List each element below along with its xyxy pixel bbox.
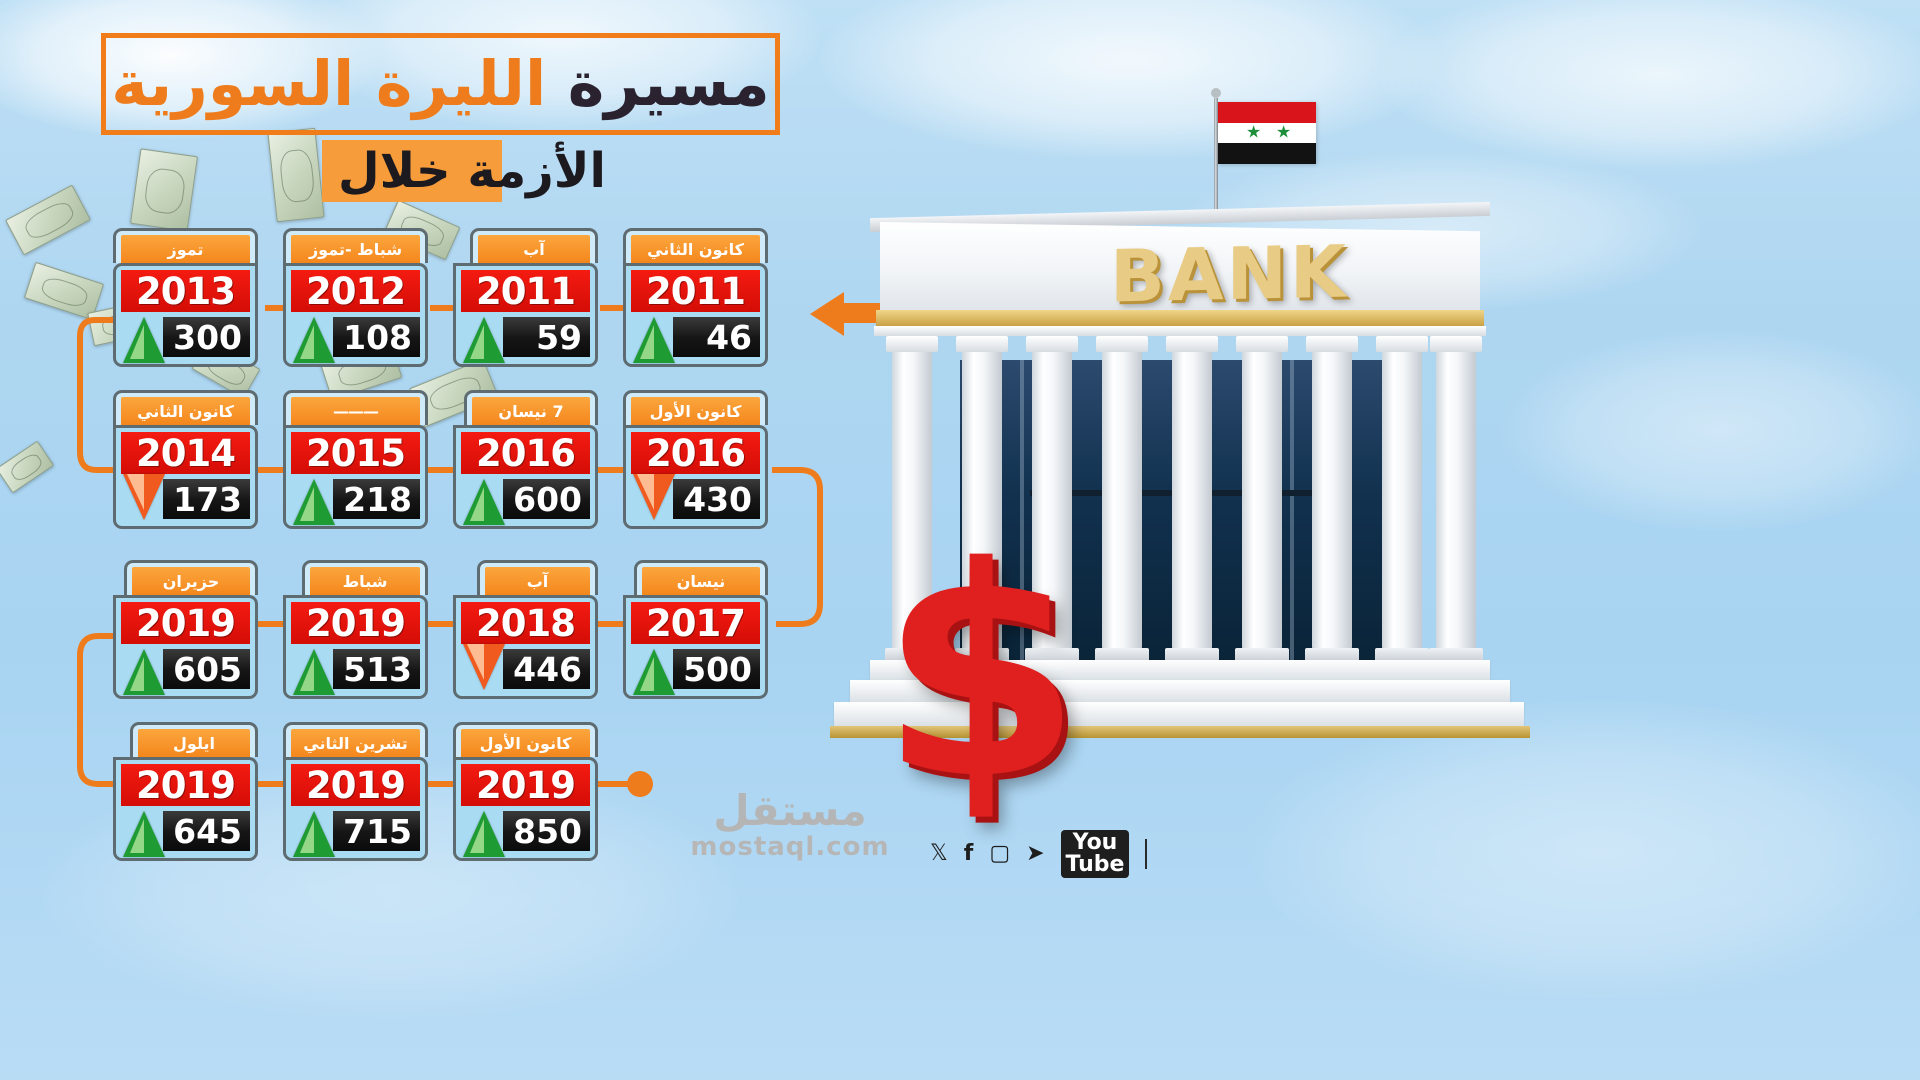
trend-up-icon	[121, 809, 167, 853]
card-month-label: تموز	[121, 235, 250, 263]
card-year: 2019	[291, 602, 420, 644]
timeline-card[interactable]: آب 2011 59	[453, 228, 598, 367]
dollar-sign-icon: $	[880, 530, 1080, 810]
card-year: 2019	[121, 602, 250, 644]
card-year: 2015	[291, 432, 420, 474]
card-year: 2016	[631, 432, 760, 474]
card-value: 59	[503, 317, 590, 357]
card-month-label: 7 نيسان	[472, 397, 590, 425]
trend-up-icon	[291, 315, 337, 359]
card-year: 2019	[461, 764, 590, 806]
watermark-arabic: مستقل	[690, 790, 890, 832]
card-month-label: آب	[485, 567, 590, 595]
card-value: 430	[673, 479, 760, 519]
trend-up-icon	[461, 315, 507, 359]
card-value: 218	[333, 479, 420, 519]
trend-up-icon	[121, 315, 167, 359]
flag-star-icon: ★	[1276, 124, 1291, 141]
social-links: 𝕏 f ▢ ➤ YouTube	[930, 830, 1147, 878]
trend-up-icon	[121, 647, 167, 691]
card-year: 2013	[121, 270, 250, 312]
card-month-label: حزيران	[132, 567, 250, 595]
timeline-card[interactable]: حزيران 2019 605	[113, 560, 258, 699]
trend-up-icon	[291, 477, 337, 521]
bank-illustration: ★ ★ BANK $	[840, 60, 1520, 820]
trend-down-icon	[631, 477, 677, 521]
card-month-label: شباط -تموز	[291, 235, 420, 263]
card-value: 446	[503, 649, 590, 689]
card-month-label: نيسان	[642, 567, 760, 595]
twitter-icon[interactable]: 𝕏	[930, 843, 948, 865]
instagram-icon[interactable]: ▢	[989, 843, 1010, 865]
subtitle-plain-word: خلال	[338, 143, 451, 199]
timeline-card[interactable]: ——— 2015 218	[283, 390, 428, 529]
trend-up-icon	[631, 647, 677, 691]
trend-up-icon	[631, 315, 677, 359]
card-month-label: ———	[291, 397, 420, 425]
timeline-card[interactable]: شباط -تموز 2012 108	[283, 228, 428, 367]
pointer-arrow-icon	[810, 292, 844, 336]
bank-white-band	[874, 326, 1486, 336]
timeline-card[interactable]: كانون الأول 2019 850	[453, 722, 598, 861]
timeline-card[interactable]: كانون الأول 2016 430	[623, 390, 768, 529]
timeline-card[interactable]: ايلول 2019 645	[113, 722, 258, 861]
card-year: 2017	[631, 602, 760, 644]
card-value: 850	[503, 811, 590, 851]
card-month-label: كانون الأول	[461, 729, 590, 757]
page-subtitle: الأزمة خلال	[322, 140, 612, 202]
card-year: 2011	[461, 270, 590, 312]
card-year: 2014	[121, 432, 250, 474]
card-year: 2011	[631, 270, 760, 312]
card-value: 513	[333, 649, 420, 689]
telegram-icon[interactable]: ➤	[1026, 843, 1044, 865]
card-year: 2012	[291, 270, 420, 312]
youtube-icon[interactable]: YouTube	[1061, 830, 1130, 878]
card-month-label: آب	[478, 235, 590, 263]
trend-up-icon	[291, 809, 337, 853]
bank-sign-text: BANK	[1110, 236, 1349, 313]
timeline-card[interactable]: نيسان 2017 500	[623, 560, 768, 699]
card-month-label: كانون الثاني	[121, 397, 250, 425]
card-value: 600	[503, 479, 590, 519]
trend-down-icon	[121, 477, 167, 521]
facebook-icon[interactable]: f	[964, 843, 974, 865]
card-value: 300	[163, 317, 250, 357]
card-value: 108	[333, 317, 420, 357]
timeline-card[interactable]: آب 2018 446	[453, 560, 598, 699]
timeline-card[interactable]: شباط 2019 513	[283, 560, 428, 699]
card-value: 46	[673, 317, 760, 357]
card-month-label: شباط	[310, 567, 420, 595]
card-year: 2019	[291, 764, 420, 806]
card-value: 173	[163, 479, 250, 519]
card-month-label: كانون الأول	[631, 397, 760, 425]
timeline-card[interactable]: تشرين الثاني 2019 715	[283, 722, 428, 861]
timeline-card[interactable]: كانون الثاني 2014 173	[113, 390, 258, 529]
card-month-label: تشرين الثاني	[291, 729, 420, 757]
timeline-card[interactable]: كانون الثاني 2011 46	[623, 228, 768, 367]
card-month-label: كانون الثاني	[631, 235, 760, 263]
card-year: 2016	[461, 432, 590, 474]
watermark-latin: mostaql.com	[690, 834, 890, 860]
syria-flag-icon: ★ ★	[1218, 102, 1316, 164]
timeline-card[interactable]: 7 نيسان 2016 600	[453, 390, 598, 529]
card-month-label: ايلول	[138, 729, 250, 757]
trend-down-icon	[461, 647, 507, 691]
card-value: 500	[673, 649, 760, 689]
card-value: 605	[163, 649, 250, 689]
watermark: مستقل mostaql.com	[690, 790, 890, 870]
card-value: 645	[163, 811, 250, 851]
card-year: 2019	[121, 764, 250, 806]
timeline-card[interactable]: تموز 2013 300	[113, 228, 258, 367]
cloud	[1500, 330, 1920, 530]
trend-up-icon	[291, 647, 337, 691]
flag-star-icon: ★	[1246, 124, 1261, 141]
trend-up-icon	[461, 477, 507, 521]
divider	[1145, 839, 1147, 869]
card-year: 2018	[461, 602, 590, 644]
subtitle-highlight-word: الأزمة	[467, 143, 606, 199]
trend-up-icon	[461, 809, 507, 853]
card-value: 715	[333, 811, 420, 851]
